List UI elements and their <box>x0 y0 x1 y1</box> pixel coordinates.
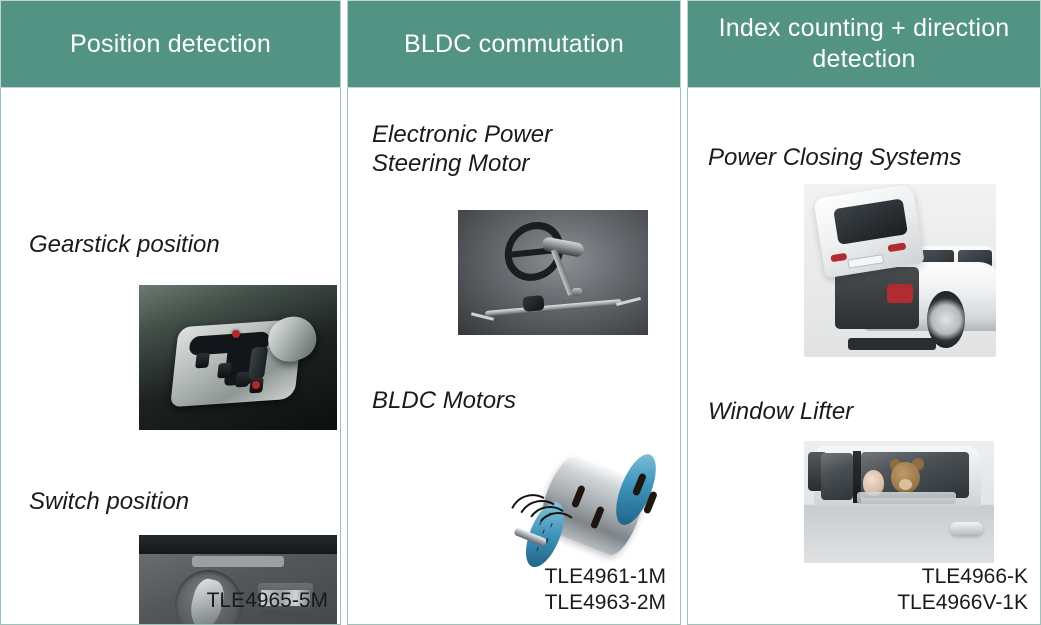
tailgate-liftgate-panel <box>814 184 925 278</box>
part-numbers-index-counting: TLE4966-K TLE4966V-1K <box>897 564 1028 616</box>
section-label-bldc-motors: BLDC Motors <box>372 386 516 415</box>
section-label-power-closing-systems: Power Closing Systems <box>708 143 961 172</box>
steering-universal-joint <box>572 288 582 297</box>
section-label-gearstick-position: Gearstick position <box>29 230 220 259</box>
column-body-index-counting-direction-detection: Power Closing Systems Window Lifter <box>687 88 1041 625</box>
column-header-position-detection: Position detection <box>0 0 341 88</box>
bldc-motor-photo <box>498 434 673 584</box>
column-index-counting-direction-detection: Index counting + direction detection Pow… <box>687 0 1041 625</box>
column-bldc-commutation: BLDC commutation Electronic Power Steeri… <box>347 0 681 625</box>
column-position-detection: Position detection Gearstick position Sw… <box>0 0 341 625</box>
gearstick-photo <box>139 285 337 430</box>
teddy-bear-muzzle <box>899 479 912 490</box>
section-label-electronic-power-steering-motor: Electronic Power Steering Motor <box>372 120 552 178</box>
column-header-bldc-commutation: BLDC commutation <box>347 0 681 88</box>
steering-rack <box>485 299 622 317</box>
part-numbers-position-detection: TLE4965-5M <box>207 588 328 614</box>
window-lifter-photo <box>804 441 994 563</box>
window-lifter-rear-quarter-glass <box>821 453 853 499</box>
gearstick-button-2 <box>217 363 232 378</box>
column-body-bldc-commutation: Electronic Power Steering Motor BLDC Mot… <box>347 88 681 625</box>
column-header-index-counting-direction-detection: Index counting + direction detection <box>687 0 1041 88</box>
tailgate-lamp-left <box>831 253 848 263</box>
switch-chrome-strip <box>192 556 283 567</box>
gearstick-indicator-lower <box>252 381 260 389</box>
part-numbers-bldc-commutation: TLE4961-1M TLE4963-2M <box>545 564 666 616</box>
tailgate-license-plate <box>848 254 885 269</box>
gearstick-button-3 <box>235 372 250 387</box>
tailgate-body-taillight <box>887 284 914 303</box>
column-body-position-detection: Gearstick position Switch position <box>0 88 341 625</box>
tailgate-liftgate-glass <box>833 198 908 244</box>
product-application-board: Position detection Gearstick position Sw… <box>0 0 1041 625</box>
tailgate-lamp-right <box>888 242 907 252</box>
section-label-switch-position: Switch position <box>29 487 189 516</box>
tailgate-rear-bumper <box>848 338 936 350</box>
steering-assist-motor <box>522 295 544 312</box>
window-lifter-glass-edge <box>857 492 956 504</box>
gearstick-button-1 <box>196 353 211 368</box>
steering-motor-photo <box>458 210 648 335</box>
window-lifter-door-handle[interactable] <box>950 522 982 535</box>
switch-panel-top-trim <box>139 535 337 554</box>
tailgate-photo <box>804 184 996 357</box>
gearstick-indicator-upper <box>232 330 240 338</box>
section-label-window-lifter: Window Lifter <box>708 397 853 426</box>
